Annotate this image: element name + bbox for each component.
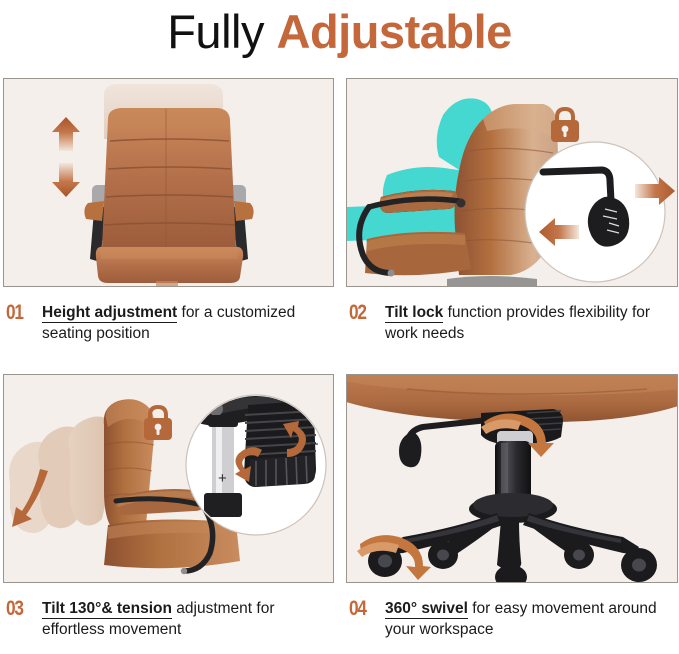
product-feature-infographic: Fully Adjustable bbox=[0, 0, 679, 654]
tension-knob-inset: + − bbox=[186, 389, 326, 535]
caption-text-03: Tilt 130°& tension adjustment for effort… bbox=[42, 598, 336, 640]
caption-text-04: 360° swivel for easy movement around you… bbox=[385, 598, 679, 640]
chair-front-view-illustration bbox=[4, 79, 333, 286]
up-arrow-icon bbox=[52, 117, 80, 151]
caption-text-01: Height adjustment for a customized seati… bbox=[42, 302, 336, 344]
page-title-part2: Adjustable bbox=[277, 8, 512, 55]
caption-text-02: Tilt lock function provides flexibility … bbox=[385, 302, 679, 344]
plus-label: + bbox=[218, 470, 227, 487]
page-title-part1: Fully bbox=[167, 8, 276, 55]
caption-number-04: 04 bbox=[349, 598, 370, 620]
caption-03: 03 Tilt 130°& tension adjustment for eff… bbox=[6, 598, 336, 640]
feature-panel-height-adjustment bbox=[3, 78, 334, 287]
caption-strong-03: Tilt 130°& tension bbox=[42, 600, 172, 619]
chair-side-view-illustration bbox=[347, 79, 677, 286]
caption-04: 04 360° swivel for easy movement around … bbox=[349, 598, 679, 640]
tilt-lock-lever-inset bbox=[525, 142, 675, 282]
caption-number-02: 02 bbox=[349, 302, 370, 324]
caption-number-01: 01 bbox=[6, 302, 27, 324]
down-arrow-icon bbox=[52, 163, 80, 197]
padlock-icon bbox=[551, 109, 579, 142]
caption-strong-02: Tilt lock bbox=[385, 304, 443, 323]
caption-01: 01 Height adjustment for a customized se… bbox=[6, 302, 336, 344]
caption-strong-04: 360° swivel bbox=[385, 600, 468, 619]
feature-panel-tilt-tension: + − bbox=[3, 374, 334, 583]
caption-02: 02 Tilt lock function provides flexibili… bbox=[349, 302, 679, 344]
page-title: Fully Adjustable bbox=[0, 0, 679, 62]
caption-number-03: 03 bbox=[6, 598, 27, 620]
feature-panel-tilt-lock bbox=[346, 78, 678, 287]
chair-recline-illustration: + − bbox=[4, 375, 333, 582]
caption-strong-01: Height adjustment bbox=[42, 304, 177, 323]
minus-label: − bbox=[310, 436, 319, 453]
feature-panel-swivel bbox=[346, 374, 678, 583]
chair-base-illustration bbox=[347, 375, 677, 582]
